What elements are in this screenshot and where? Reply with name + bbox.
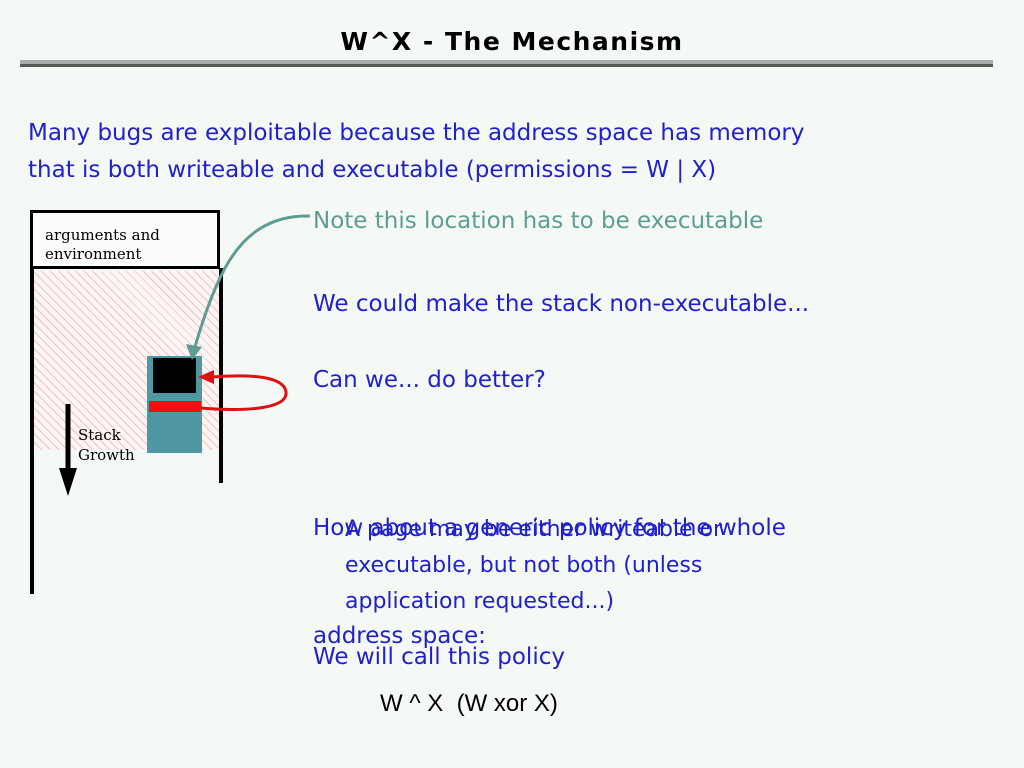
stack-label-line-1: Stack [78,425,168,445]
args-label-line-2: environment [45,245,220,264]
bullet-call-this-policy: We will call this policy [313,639,565,675]
arguments-environment-label: arguments and environment [45,226,220,264]
bullet-do-better: Can we... do better? [313,362,546,398]
wxor-x-formula: W ^ X (W xor X) [380,690,558,718]
sub-bullet-line-2: executable, but not both (unless [345,548,865,584]
callout-note-text: Note this location has to be executable [313,208,763,234]
bullet-non-executable-stack: We could make the stack non-executable..… [313,286,809,322]
address-space-right-border [219,268,223,483]
sub-bullet-line-3: application requested...) [345,584,865,620]
stack-label-line-2: Growth [78,445,168,465]
slide-canvas: W^X - The Mechanism Many bugs are exploi… [0,0,1024,768]
shellcode-black-square [153,358,196,393]
sub-bullet-line-1: A page may be either writeable or [345,512,865,548]
return-address-red-bar [149,401,201,412]
sub-bullet-page-permissions: A page may be either writeable or execut… [345,512,865,620]
memory-layout-diagram: arguments and environment Stack Growth [0,0,330,768]
stack-growth-label: Stack Growth [78,425,168,465]
args-label-line-1: arguments and [45,226,220,245]
